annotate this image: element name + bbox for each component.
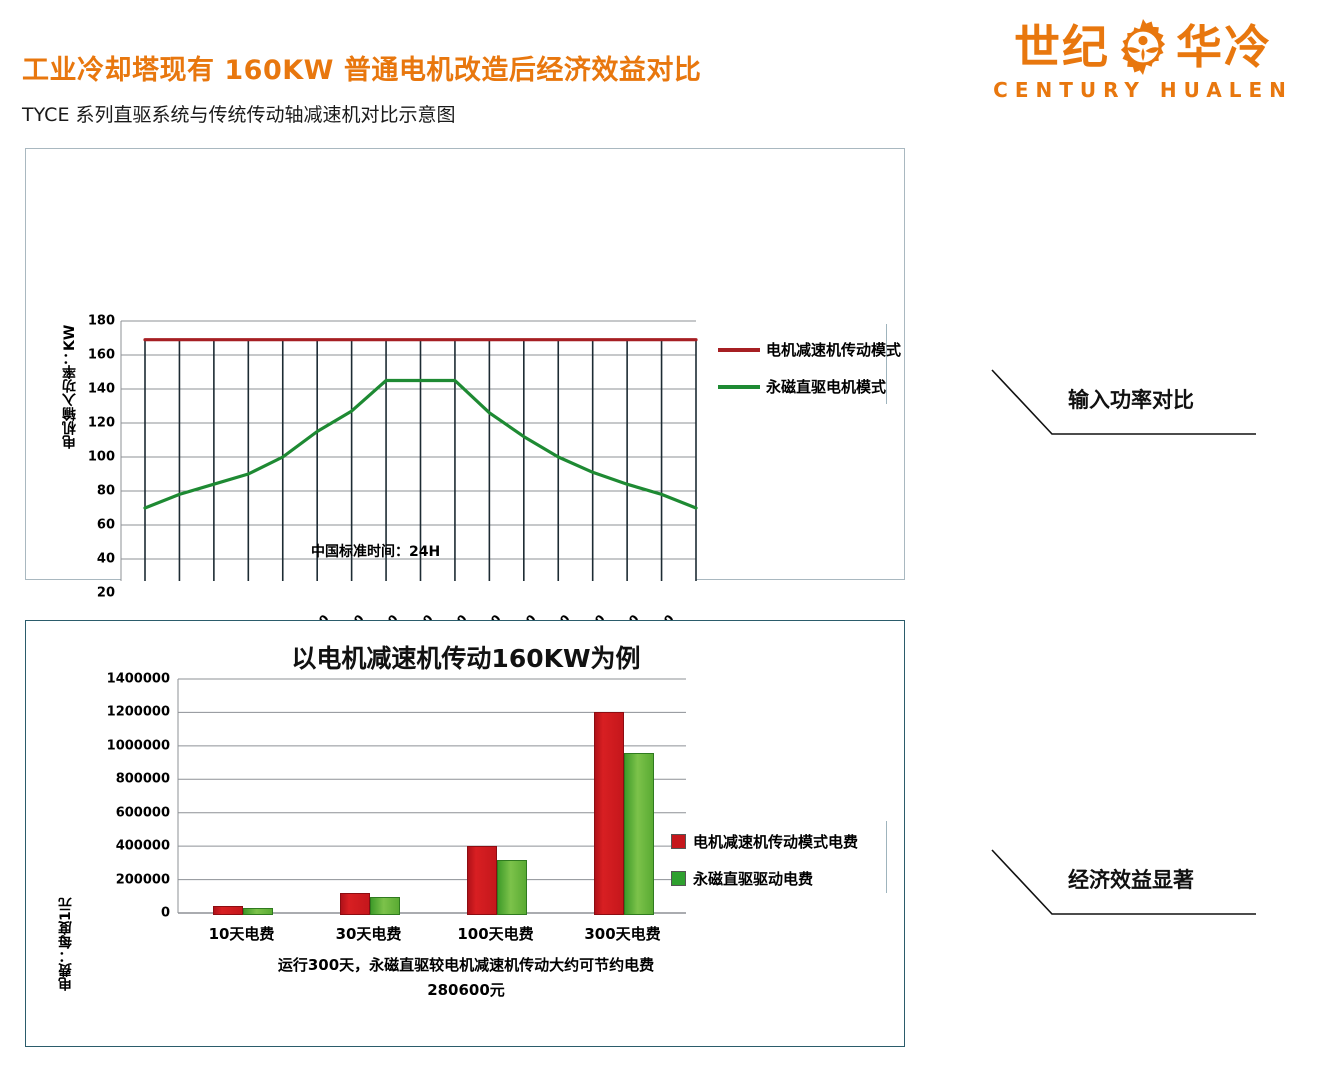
line-chart-x-axis-title: 中国标准时间：24H [311, 541, 440, 561]
y-tick-label: 800000 [60, 772, 170, 787]
y-tick-label: 120 [63, 416, 115, 431]
y-tick-label: 0 [60, 906, 170, 921]
bar-chart-footnote-line2: 280600元 [26, 979, 906, 1002]
callout-label-input-power: 输入功率对比 [1068, 384, 1194, 414]
legend-label-gearbox: 电机减速机传动模式 [766, 339, 901, 360]
callout-input-power: 输入功率对比 [990, 368, 1258, 448]
y-tick-label: 40 [63, 552, 115, 567]
legend-swatch-green [671, 871, 686, 886]
logo-text-right: 华冷 [1176, 24, 1272, 70]
cost-comparison-panel: 以电机减速机传动160KW为例 电费：每度1元 0200000400000600… [25, 620, 905, 1047]
bar-direct-drive-cost[interactable] [370, 897, 400, 915]
x-tick-label: 10天电费 [178, 923, 305, 944]
bar-chart-footnote-line1: 运行300天，永磁直驱较电机减速机传动大约可节约电费 [26, 954, 906, 977]
logo-text-left: 世纪 [1014, 24, 1110, 70]
page-title: 工业冷却塔现有 160KW 普通电机改造后经济效益对比 [22, 48, 701, 87]
bar-gearbox-cost[interactable] [340, 893, 370, 915]
bar-gearbox-cost[interactable] [594, 712, 624, 915]
y-tick-label: 140 [63, 382, 115, 397]
legend-line-green [718, 385, 760, 389]
y-tick-label: 600000 [60, 805, 170, 820]
legend-item-direct-drive-cost[interactable]: 永磁直驱驱动电费 [671, 868, 858, 889]
y-tick-label: 1200000 [60, 705, 170, 720]
bar-gearbox-cost[interactable] [213, 906, 243, 915]
bar-direct-drive-cost[interactable] [624, 753, 654, 915]
legend-label-direct-drive-cost: 永磁直驱驱动电费 [693, 868, 813, 889]
legend-item-gearbox-cost[interactable]: 电机减速机传动模式电费 [671, 831, 858, 852]
legend-line-red [718, 348, 760, 352]
y-tick-label: 200000 [60, 872, 170, 887]
y-tick-label: 60 [63, 518, 115, 533]
legend-divider [886, 821, 887, 893]
y-tick-label: 1000000 [60, 738, 170, 753]
legend-item-gearbox[interactable]: 电机减速机传动模式 [718, 339, 901, 360]
legend-swatch-red [671, 834, 686, 849]
power-comparison-panel: 电机输入功率：KW 020406080100120140160180 0:002… [25, 148, 905, 580]
callout-label-economic-benefit: 经济效益显著 [1068, 864, 1194, 894]
x-tick-label: 300天电费 [559, 923, 686, 944]
y-tick-label: 160 [63, 348, 115, 363]
logo-subtext: CENTURY HUALEN [978, 78, 1308, 102]
bar-direct-drive-cost[interactable] [497, 860, 527, 915]
bar-direct-drive-cost[interactable] [243, 908, 273, 915]
callout-economic-benefit: 经济效益显著 [990, 848, 1258, 928]
y-tick-label: 180 [63, 314, 115, 329]
x-tick-label: 30天电费 [305, 923, 432, 944]
legend-item-direct-drive[interactable]: 永磁直驱电机模式 [718, 376, 901, 397]
y-tick-label: 20 [63, 586, 115, 601]
y-tick-label: 1400000 [60, 672, 170, 687]
cost-bar-chart: 以电机减速机传动160KW为例 电费：每度1元 0200000400000600… [26, 621, 906, 1048]
page-subtitle: TYCE 系列直驱系统与传统传动轴减速机对比示意图 [22, 100, 456, 127]
line-chart-legend: 电机减速机传动模式 永磁直驱电机模式 [718, 339, 901, 413]
bar-chart-legend: 电机减速机传动模式电费 永磁直驱驱动电费 [671, 831, 858, 905]
y-tick-label: 100 [63, 450, 115, 465]
legend-label-direct-drive: 永磁直驱电机模式 [766, 376, 886, 397]
company-logo: 世纪 华冷 CENTURY HUALEN [978, 18, 1308, 113]
power-line-chart: 电机输入功率：KW 020406080100120140160180 0:002… [26, 149, 906, 581]
y-tick-label: 400000 [60, 839, 170, 854]
gear-eye-icon [1114, 18, 1172, 76]
y-tick-label: 80 [63, 484, 115, 499]
legend-label-gearbox-cost: 电机减速机传动模式电费 [693, 831, 858, 852]
x-tick-label: 100天电费 [432, 923, 559, 944]
bar-gearbox-cost[interactable] [467, 846, 497, 915]
